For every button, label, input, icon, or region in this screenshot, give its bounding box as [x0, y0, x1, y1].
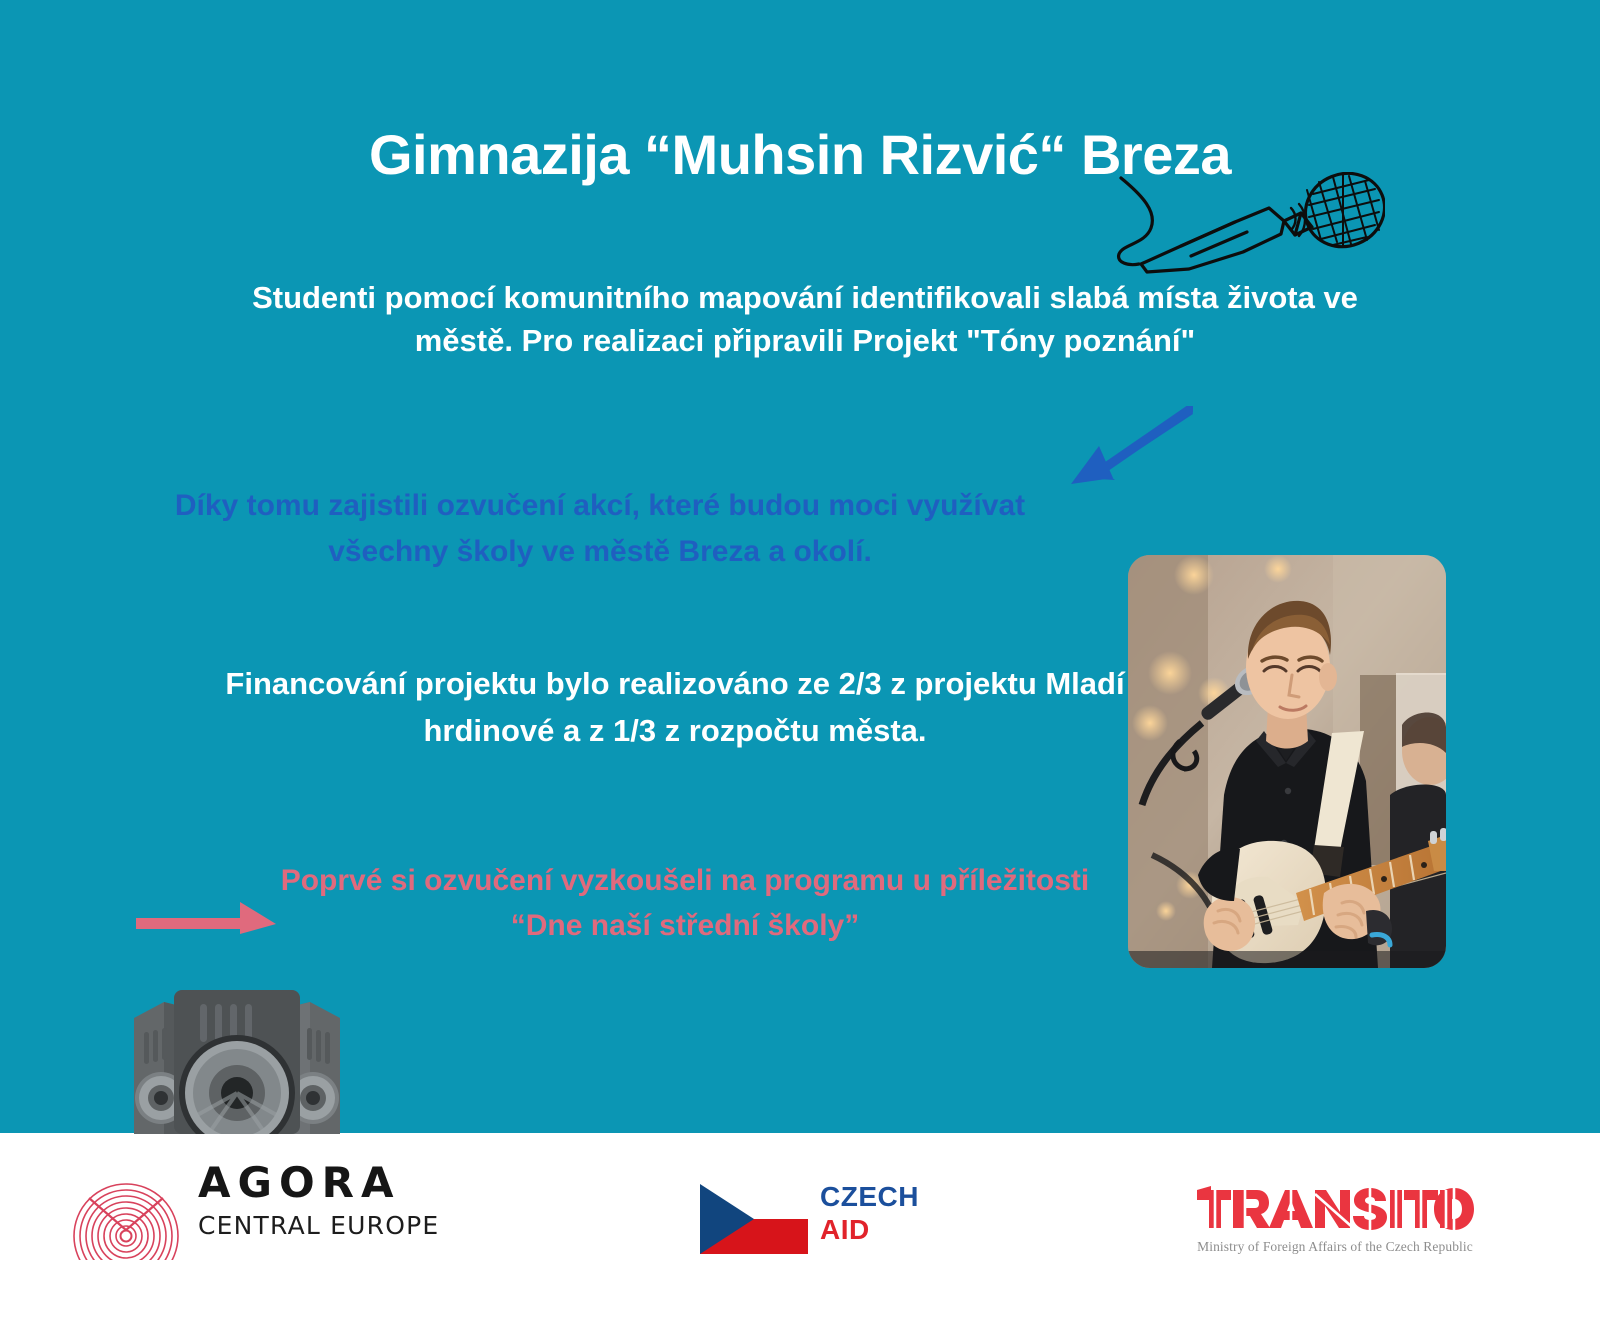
- transition-logo: Ministry of Foreign Affairs of the Czech…: [1195, 1186, 1475, 1264]
- pink-highlight-paragraph: Poprvé si ozvučení vyzkoušeli na program…: [250, 858, 1120, 948]
- blue-highlight-paragraph: Díky tomu zajistili ozvučení akcí, které…: [150, 483, 1050, 574]
- arrow-down-left-icon: [1053, 406, 1193, 491]
- ministry-subtitle: Ministry of Foreign Affairs of the Czech…: [1195, 1239, 1475, 1255]
- poster-canvas: Gimnazija “Muhsin Rizvić“ Breza: [0, 0, 1600, 1341]
- agora-name: AGORA: [198, 1162, 498, 1204]
- czech-flag-icon: [700, 1184, 808, 1254]
- subtitle-paragraph: Studenti pomocí komunitního mapování ide…: [200, 277, 1410, 363]
- speaker-system-icon: [112, 958, 362, 1134]
- transition-wordmark-icon: [1195, 1186, 1475, 1230]
- czech-label: CZECH: [820, 1180, 919, 1213]
- agora-logo: AGORA CENTRAL EUROPE: [70, 1148, 490, 1268]
- agora-tagline: CENTRAL EUROPE: [198, 1213, 498, 1238]
- amphitheater-rings-icon: [70, 1148, 182, 1260]
- financing-paragraph: Financování projektu bylo realizováno ze…: [200, 660, 1150, 754]
- guitarist-performing-photo: [1128, 555, 1446, 968]
- aid-label: AID: [820, 1213, 919, 1246]
- agora-wordmark: AGORA CENTRAL EUROPE: [198, 1162, 498, 1238]
- czech-aid-wordmark: CZECH AID: [820, 1180, 919, 1246]
- czech-aid-logo: CZECH AID: [700, 1180, 940, 1260]
- microphone-line-art-icon: [1085, 172, 1385, 287]
